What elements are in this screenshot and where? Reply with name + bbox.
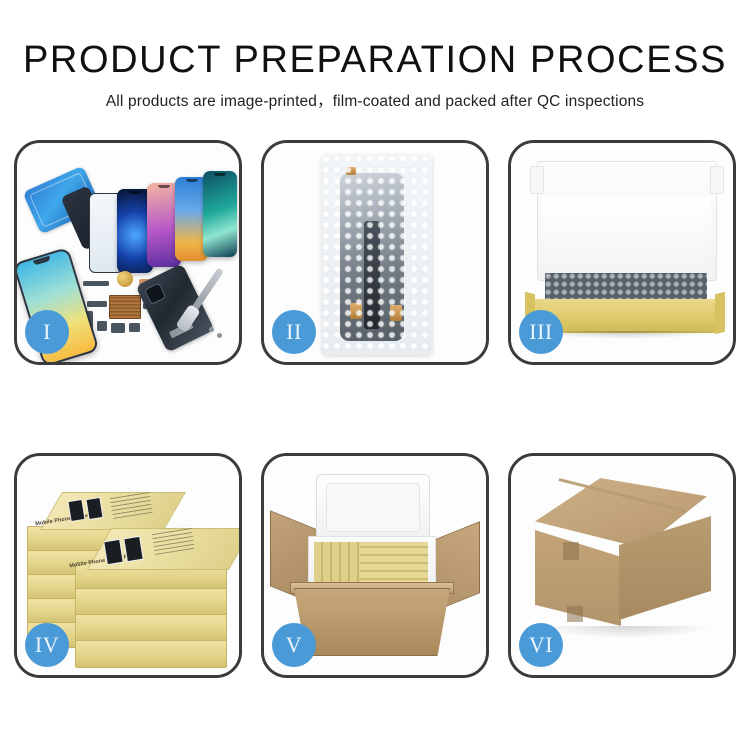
box-print-phone-graphic [85,497,103,520]
sim-tray-icon [97,321,107,331]
page-title: PRODUCT PREPARATION PROCESS [0,38,750,82]
taptic-engine-icon [129,323,140,332]
foam-case-lid-icon [316,474,430,542]
stacked-box [75,588,227,616]
step-badge-2: II [272,310,316,354]
step-badge-6: VI [519,623,563,667]
process-step-5: V [261,453,489,678]
process-step-grid: I II [14,140,736,680]
poster-header: PRODUCT PREPARATION PROCESS All products… [0,38,750,112]
vibration-motor-icon [117,271,133,287]
box-print-phone-graphic [123,536,144,562]
step-badge-5: V [272,623,316,667]
carton-tape-icon [563,542,579,560]
logic-board-icon [109,295,141,319]
process-step-2: II [261,140,489,365]
step-badge-3: III [519,310,563,354]
white-foam-sheet-icon [541,197,711,275]
process-step-1: I [14,140,242,365]
bubble-wrap-bag-icon [322,155,432,355]
connector-strip-icon [87,301,107,307]
antenna-strip-icon [83,281,109,286]
speaker-module-icon [111,323,125,333]
process-step-3: III [508,140,736,365]
carton-tape-icon [567,606,583,622]
process-step-6: VI [508,453,736,678]
box-print-phone-graphic [103,539,124,565]
product-preparation-poster: PRODUCT PREPARATION PROCESS All products… [0,0,750,750]
phone-display-teal-icon [203,171,237,257]
carton-shadow [541,626,711,638]
phone-back-housing-icon [135,263,214,352]
step-badge-4: IV [25,623,69,667]
process-step-4: Mobile Phone Spare Parts Mobile Phone Sp… [14,453,242,678]
screw-icon [217,333,222,338]
page-subtitle: All products are image-printed，film-coat… [0,92,750,112]
step-badge-1: I [25,310,69,354]
box-print-phone-graphic [67,499,85,522]
bubble-texture-overlay [322,155,432,355]
inner-boxes-in-foam-icon [360,542,428,586]
stacked-box [75,640,227,668]
stacked-box [75,614,227,642]
carton-front-icon [294,588,450,656]
screw-icon [209,327,214,332]
